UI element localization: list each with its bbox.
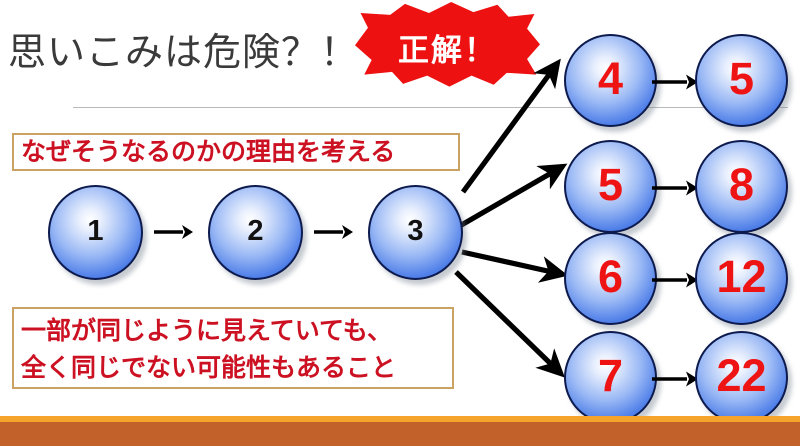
branch-node-row1-target-label: 5 <box>729 56 754 101</box>
chain-node-3[interactable]: 3 <box>368 185 463 280</box>
arrow-row1-icon <box>650 72 700 92</box>
branch-node-row2-source[interactable]: 5 <box>564 140 657 233</box>
branch-node-row3-source-label: 6 <box>598 254 623 299</box>
branch-node-row1-source[interactable]: 4 <box>564 34 657 127</box>
branch-node-row2-target[interactable]: 8 <box>695 140 788 233</box>
page-title: 思いこみは危険？！ <box>8 32 408 76</box>
arrow-2-to-3-icon <box>312 222 354 242</box>
branch-node-row3-target-label: 12 <box>716 254 766 299</box>
branch-node-row4-target[interactable]: 22 <box>695 331 788 424</box>
fan-arrow-to-row4 <box>456 272 553 366</box>
fan-arrow-to-row3 <box>462 252 552 272</box>
arrow-1-to-2-icon <box>152 222 194 242</box>
branch-node-row3-source[interactable]: 6 <box>564 232 657 325</box>
arrow-row2-icon <box>650 178 700 198</box>
branch-node-row3-target[interactable]: 12 <box>695 232 788 325</box>
callout-reason-text: なぜそうなるのかの理由を考える <box>21 138 395 166</box>
chain-node-3-label: 3 <box>407 217 423 246</box>
chain-node-2[interactable]: 2 <box>208 185 303 280</box>
correct-answer-badge: 正解！ <box>355 2 540 94</box>
branch-node-row1-target[interactable]: 5 <box>695 34 788 127</box>
footer-bar <box>0 422 800 446</box>
branch-node-row4-source[interactable]: 7 <box>564 331 657 424</box>
branch-node-row1-source-label: 4 <box>598 56 623 101</box>
arrow-row4-icon <box>650 369 700 389</box>
header-divider <box>73 107 788 108</box>
branch-node-row2-source-label: 5 <box>598 162 623 207</box>
chain-node-2-label: 2 <box>247 217 263 246</box>
callout-caution: 一部が同じように見えていても、 全く同じでない可能性もあること <box>12 307 454 389</box>
fan-arrow-to-row2 <box>458 172 553 227</box>
chain-node-1-label: 1 <box>87 217 103 246</box>
chain-node-1[interactable]: 1 <box>48 185 143 280</box>
callout-caution-line2: 全く同じでない可能性もあること <box>21 350 452 387</box>
branch-node-row4-target-label: 22 <box>716 353 766 398</box>
arrow-row3-icon <box>650 270 700 290</box>
slide-canvas: 思いこみは危険？！ 正解！ なぜそうなるのかの理由を考える 一部が同じように見え… <box>0 0 800 446</box>
branch-node-row2-target-label: 8 <box>729 162 754 207</box>
callout-caution-line1: 一部が同じように見えていても、 <box>21 313 452 350</box>
callout-reason: なぜそうなるのかの理由を考える <box>12 133 460 171</box>
branch-node-row4-source-label: 7 <box>598 353 623 398</box>
badge-label: 正解！ <box>355 2 540 94</box>
